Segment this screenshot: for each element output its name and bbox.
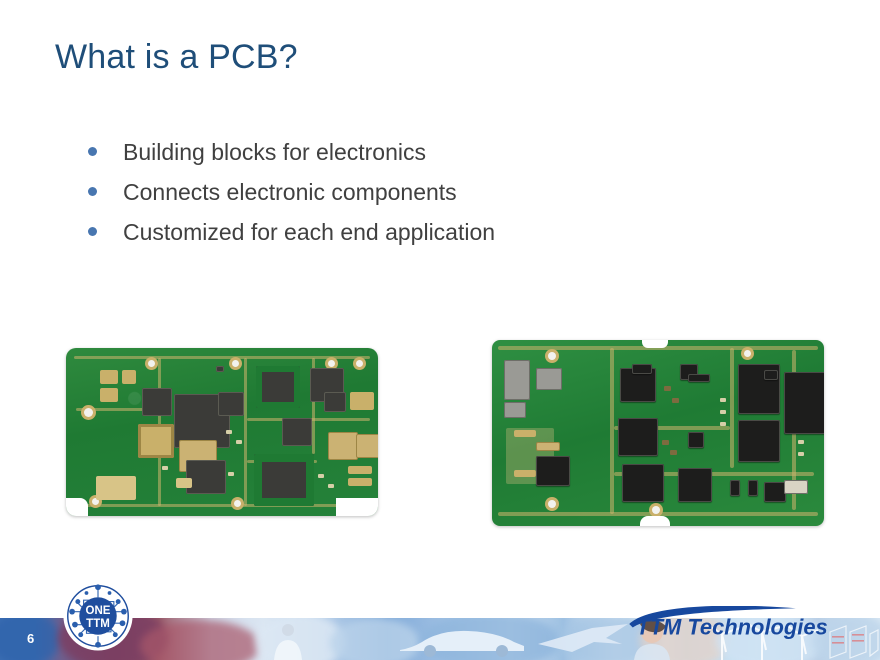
badge-line1: ONE: [86, 605, 111, 617]
one-ttm-logo: ONE TTM: [62, 580, 134, 652]
slide: What is a PCB? Building blocks for elect…: [0, 0, 880, 660]
footer: ONE TTM TTM Technologies: [0, 598, 880, 660]
bullet-label: Building blocks for electronics: [123, 140, 426, 164]
bullet-icon: [88, 227, 97, 236]
diagram: [0, 330, 880, 540]
list-item: Building blocks for electronics: [88, 140, 708, 164]
ttm-technologies-logo: TTM Technologies: [624, 606, 852, 642]
bullet-icon: [88, 147, 97, 156]
list-item: Customized for each end application: [88, 220, 708, 244]
bullet-icon: [88, 187, 97, 196]
bullet-label: Customized for each end application: [123, 220, 495, 244]
populated-pcb-image: [492, 340, 824, 526]
badge-line2: TTM: [86, 618, 110, 630]
page-number: 6: [27, 631, 34, 646]
bullet-list: Building blocks for electronics Connects…: [88, 140, 708, 260]
bare-pcb-image: [66, 348, 378, 516]
list-item: Connects electronic components: [88, 180, 708, 204]
page-title: What is a PCB?: [55, 38, 298, 77]
ttm-company-name: TTM Technologies: [636, 615, 827, 640]
bullet-label: Connects electronic components: [123, 180, 457, 204]
